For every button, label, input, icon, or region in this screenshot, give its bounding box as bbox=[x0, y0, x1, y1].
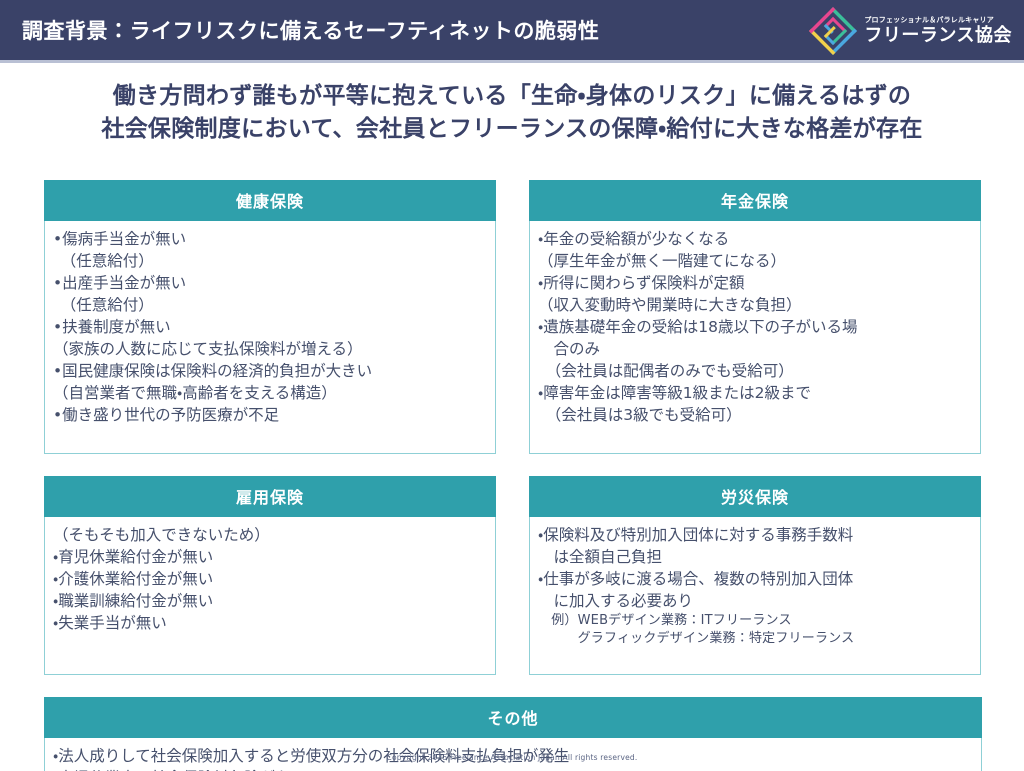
list-item: ・所得に関わらず保険料が定額 bbox=[538, 272, 974, 294]
list-item: ・介護休業給付金が無い bbox=[53, 568, 489, 590]
list-item: •傷病手当金が無い bbox=[53, 228, 489, 250]
grid-row-spacer bbox=[44, 675, 982, 697]
list-item: （収入変動時や開業時に大きな負担） bbox=[538, 294, 974, 316]
card-body-pension-insurance: ・年金の受給額が少なくなる （厚生年金が無く一階建てになる） ・所得に関わらず保… bbox=[529, 221, 981, 454]
list-item: •働き盛り世代の予防医療が不足 bbox=[53, 404, 489, 426]
card-title-other: その他 bbox=[44, 697, 982, 738]
page-title: 調査背景：ライフリスクに備えるセーフティネットの脆弱性 bbox=[22, 15, 599, 45]
grid-row-2: 雇用保険 （そもそも加入できないため） ・育児休業給付金が無い ・介護休業給付金… bbox=[44, 476, 982, 675]
card-workers-accident-insurance: 労災保険 ・保険料及び特別加入団体に対する事務手数料 は全額自己負担 ・仕事が多… bbox=[529, 476, 981, 675]
card-title-health-insurance: 健康保険 bbox=[44, 180, 496, 221]
card-pension-insurance: 年金保険 ・年金の受給額が少なくなる （厚生年金が無く一階建てになる） ・所得に… bbox=[529, 180, 981, 454]
lead-line-1: 働き方問わず誰もが平等に抱えている「生命・身体のリスク」に備えるはずの bbox=[0, 80, 1024, 113]
list-item: ・職業訓練給付金が無い bbox=[53, 590, 489, 612]
list-item: （そもそも加入できないため） bbox=[53, 524, 489, 546]
card-body-health-insurance: •傷病手当金が無い （任意給付） •出産手当金が無い （任意給付） •扶養制度が… bbox=[44, 221, 496, 454]
list-item: •出産手当金が無い bbox=[53, 272, 489, 294]
list-item: ・年金の受給額が少なくなる bbox=[538, 228, 974, 250]
card-employment-insurance: 雇用保険 （そもそも加入できないため） ・育児休業給付金が無い ・介護休業給付金… bbox=[44, 476, 496, 675]
list-item: ・保険料及び特別加入団体に対する事務手数料 bbox=[538, 524, 974, 546]
list-item: （厚生年金が無く一階建てになる） bbox=[538, 250, 974, 272]
list-item: ・育児休業中の社会保険料免除がない bbox=[53, 767, 975, 771]
list-item: （自営業者で無職・高齢者を支える構造） bbox=[53, 382, 489, 404]
list-item: ・育児休業給付金が無い bbox=[53, 546, 489, 568]
list-item: に加入する必要あり bbox=[538, 590, 974, 612]
brand-logo: プロフェッショナル＆パラレルキャリア フリーランス協会 bbox=[808, 6, 1012, 56]
insurance-gap-grid: 健康保険 •傷病手当金が無い （任意給付） •出産手当金が無い （任意給付） •… bbox=[44, 180, 982, 771]
brand-logo-text: プロフェッショナル＆パラレルキャリア フリーランス協会 bbox=[864, 17, 1012, 45]
card-body-employment-insurance: （そもそも加入できないため） ・育児休業給付金が無い ・介護休業給付金が無い ・… bbox=[44, 517, 496, 675]
list-item: （会社員は配偶者のみでも受給可） bbox=[538, 360, 974, 382]
list-item: ・障害年金は障害等級1級または2級まで bbox=[538, 382, 974, 404]
card-title-pension-insurance: 年金保険 bbox=[529, 180, 981, 221]
card-health-insurance: 健康保険 •傷病手当金が無い （任意給付） •出産手当金が無い （任意給付） •… bbox=[44, 180, 496, 454]
list-item: •扶養制度が無い bbox=[53, 316, 489, 338]
lead-statement: 働き方問わず誰もが平等に抱えている「生命・身体のリスク」に備えるはずの 社会保険… bbox=[0, 80, 1024, 147]
card-body-workers-accident-insurance: ・保険料及び特別加入団体に対する事務手数料 は全額自己負担 ・仕事が多岐に渡る場… bbox=[529, 517, 981, 675]
list-item: 合のみ bbox=[538, 338, 974, 360]
lead-line-2: 社会保険制度において、会社員とフリーランスの保障・給付に大きな格差が存在 bbox=[0, 113, 1024, 146]
card-title-workers-accident-insurance: 労災保険 bbox=[529, 476, 981, 517]
list-item: •国民健康保険は保険料の経済的負担が大きい bbox=[53, 360, 489, 382]
list-item: （任意給付） bbox=[53, 294, 489, 316]
header-divider bbox=[0, 60, 1024, 63]
freelance-association-diamond-logo bbox=[808, 6, 858, 56]
list-item: （会社員は3級でも受給可） bbox=[538, 404, 974, 426]
grid-row-1: 健康保険 •傷病手当金が無い （任意給付） •出産手当金が無い （任意給付） •… bbox=[44, 180, 982, 454]
brand-name: フリーランス協会 bbox=[864, 27, 1012, 45]
list-item: は全額自己負担 bbox=[538, 546, 974, 568]
list-item: ・遺族基礎年金の受給は18歳以下の子がいる場 bbox=[538, 316, 974, 338]
list-item-example: グラフィックデザイン業務：特定フリーランス bbox=[538, 630, 974, 648]
brand-tagline: プロフェッショナル＆パラレルキャリア bbox=[864, 17, 1012, 24]
list-item: ・失業手当が無い bbox=[53, 612, 489, 634]
list-item: （家族の人数に応じて支払保険料が増える） bbox=[53, 338, 489, 360]
list-item: （任意給付） bbox=[53, 250, 489, 272]
copyright-footer: Copyright 2025 Freelance Association Jap… bbox=[0, 753, 1024, 762]
grid-row-spacer bbox=[44, 454, 982, 476]
list-item: ・仕事が多岐に渡る場合、複数の特別加入団体 bbox=[538, 568, 974, 590]
card-title-employment-insurance: 雇用保険 bbox=[44, 476, 496, 517]
list-item-example: 例）WEBデザイン業務：ITフリーランス bbox=[538, 612, 974, 630]
header-bar: 調査背景：ライフリスクに備えるセーフティネットの脆弱性 プロフェッショナル＆パラ… bbox=[0, 0, 1024, 60]
